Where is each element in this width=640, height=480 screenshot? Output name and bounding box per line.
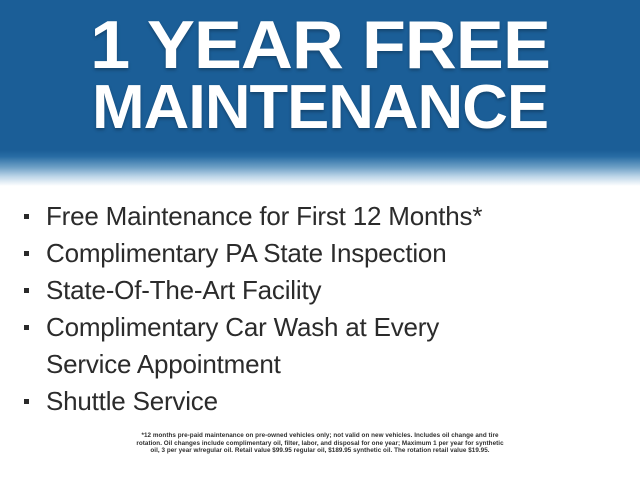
header-banner: 1 YEAR FREE MAINTENANCE [0,0,640,186]
list-item-label: Complimentary Car Wash at Every [46,309,439,346]
list-item: Free Maintenance for First 12 Months* [24,198,640,235]
disclaimer-line-2: rotation. Oil changes include compliment… [28,440,612,448]
list-item: State-Of-The-Art Facility [24,272,640,309]
list-item: Complimentary Car Wash at Every [24,309,640,346]
list-item-label-continued: Service Appointment [46,346,281,383]
disclaimer-line-3: oil, 3 per year w/regular oil. Retail va… [28,447,612,455]
list-item-label: Free Maintenance for First 12 Months* [46,198,482,235]
disclaimer-fine-print: *12 months pre-paid maintenance on pre-o… [0,432,640,455]
list-item-label: State-Of-The-Art Facility [46,272,321,309]
headline-line-2: MAINTENANCE [0,79,640,136]
list-item-label: Complimentary PA State Inspection [46,235,446,272]
list-item: Complimentary PA State Inspection [24,235,640,272]
headline-block: 1 YEAR FREE MAINTENANCE [0,0,640,136]
headline-line-1: 1 YEAR FREE [0,14,640,77]
bullet-square-icon [24,214,29,219]
disclaimer-line-1: *12 months pre-paid maintenance on pre-o… [28,432,612,440]
list-item: Shuttle Service [24,383,640,420]
bullet-square-icon [24,288,29,293]
bullet-square-icon [24,399,29,404]
banner-gradient-fade [0,150,640,186]
list-item-continuation: Service Appointment [24,346,640,383]
bullet-spacer [24,362,29,367]
bullet-square-icon [24,251,29,256]
bullet-square-icon [24,325,29,330]
offer-list: Free Maintenance for First 12 Months* Co… [0,198,640,420]
promotional-advertisement: 1 YEAR FREE MAINTENANCE Free Maintenance… [0,0,640,480]
list-item-label: Shuttle Service [46,383,218,420]
